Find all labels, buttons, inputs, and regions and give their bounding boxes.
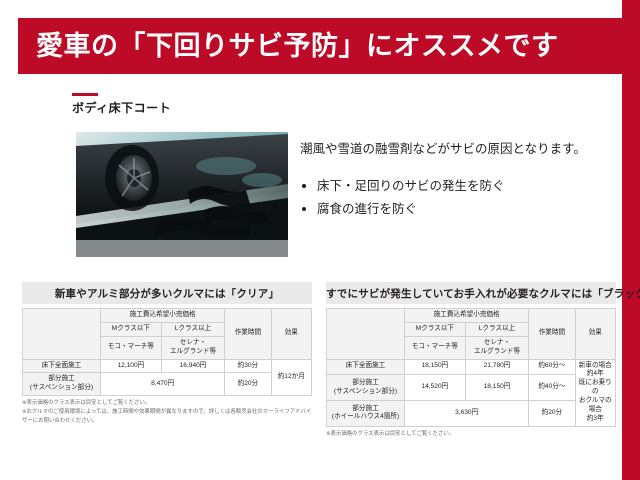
cell-work-time: 約40分〜 bbox=[529, 375, 575, 401]
table-row: 部分施工 (サスペンション部分) 8,470円 約20分 bbox=[23, 373, 312, 396]
cell-work-time: 約30分 bbox=[225, 359, 271, 373]
row-label: 床下全面施工 bbox=[23, 359, 101, 373]
cell-effect: 約12か月 bbox=[271, 359, 311, 396]
car-undercarriage-photo bbox=[76, 132, 288, 257]
cell-price-merged: 3,630円 bbox=[405, 401, 529, 427]
list-item: 腐食の進行を防ぐ bbox=[300, 198, 600, 221]
table-row: 部分施工 (ホイールハウス4箇所) 3,630円 約20分 bbox=[327, 401, 616, 427]
cell-work-time: 約20分 bbox=[529, 401, 575, 427]
table-header-row: 施工費込希望小売価格 作業時間 効果 bbox=[327, 309, 616, 323]
cell-price-large: 21,780円 bbox=[465, 359, 529, 375]
header-work-time: 作業時間 bbox=[225, 309, 271, 360]
table-row: 床下全面施工 18,150円 21,780円 約60分〜 新車の場合 約4年 既… bbox=[327, 359, 616, 375]
cell-price-large: 16,940円 bbox=[161, 359, 225, 373]
table-notes: ※表示価格のクラス表示は目安としてご覧ください。 ※おクルマのご使用環境によって… bbox=[22, 399, 312, 425]
header-work-time: 作業時間 bbox=[529, 309, 575, 360]
cell-work-time: 約20分 bbox=[225, 373, 271, 396]
cell-price-small: 18,150円 bbox=[405, 359, 466, 375]
note-line: ※おクルマのご使用環境によっては、施工時間や効果期間が異なりますので、詳しくは各… bbox=[22, 408, 312, 425]
table-notes: ※表示価格のクラス表示は目安としてご覧ください。 bbox=[326, 430, 616, 439]
price-block-title: すでにサビが発生していてお手入れが必要なクルマには「ブラック」 bbox=[326, 282, 616, 304]
header-banner: 愛車の「下回りサビ予防」にオススメです bbox=[18, 18, 622, 74]
header-example-large: セレナ・ エルグランド等 bbox=[161, 336, 225, 359]
price-table-black: 施工費込希望小売価格 作業時間 効果 Mクラス以下 Lクラス以上 モコ・マーチ等… bbox=[326, 308, 616, 427]
cell-price-small: 14,520円 bbox=[405, 375, 466, 401]
section-label: ボディ床下コート bbox=[72, 99, 171, 116]
copy-block: 潮風や雪道の融雪剤などがサビの原因となります。 床下・足回りのサビの発生を防ぐ … bbox=[300, 140, 600, 221]
row-label: 床下全面施工 bbox=[327, 359, 405, 375]
row-label: 部分施工 (ホイールハウス4箇所) bbox=[327, 401, 405, 427]
header-example-large: セレナ・ エルグランド等 bbox=[465, 336, 529, 359]
section-rule bbox=[72, 93, 98, 96]
benefit-list: 床下・足回りのサビの発生を防ぐ 腐食の進行を防ぐ bbox=[300, 175, 600, 221]
header-class-small: Mクラス以下 bbox=[405, 322, 466, 336]
copy-lead: 潮風や雪道の融雪剤などがサビの原因となります。 bbox=[300, 140, 600, 159]
right-edge-accent-bar bbox=[622, 0, 640, 480]
header-class-large: Lクラス以上 bbox=[161, 322, 225, 336]
header-spacer bbox=[23, 309, 101, 360]
header-price-group: 施工費込希望小売価格 bbox=[101, 309, 225, 323]
price-table-clear: 施工費込希望小売価格 作業時間 効果 Mクラス以下 Lクラス以上 モコ・マーチ等… bbox=[22, 308, 312, 396]
header-spacer bbox=[327, 309, 405, 360]
note-line: ※表示価格のクラス表示は目安としてご覧ください。 bbox=[326, 430, 616, 439]
header-price-group: 施工費込希望小売価格 bbox=[405, 309, 529, 323]
cell-price-merged: 8,470円 bbox=[101, 373, 225, 396]
price-block-black: すでにサビが発生していてお手入れが必要なクルマには「ブラック」 施工費込希望小売… bbox=[326, 282, 616, 438]
table-row: 部分施工 (サスペンション部分) 14,520円 18,150円 約40分〜 bbox=[327, 375, 616, 401]
header-class-large: Lクラス以上 bbox=[465, 322, 529, 336]
cell-work-time: 約60分〜 bbox=[529, 359, 575, 375]
header-effect: 効果 bbox=[575, 309, 615, 360]
table-row: 床下全面施工 12,100円 16,940円 約30分 約12か月 bbox=[23, 359, 312, 373]
header-effect: 効果 bbox=[271, 309, 311, 360]
header-example-small: モコ・マーチ等 bbox=[101, 336, 162, 359]
cell-price-large: 18,150円 bbox=[465, 375, 529, 401]
banner-title: 愛車の「下回りサビ予防」にオススメです bbox=[36, 33, 559, 60]
note-line: ※表示価格のクラス表示は目安としてご覧ください。 bbox=[22, 399, 312, 408]
row-label: 部分施工 (サスペンション部分) bbox=[327, 375, 405, 401]
cell-effect-merged: 新車の場合 約4年 既にお乗りの おクルマの場合 約3年 bbox=[575, 359, 615, 426]
price-block-title: 新車やアルミ部分が多いクルマには「クリア」 bbox=[22, 282, 312, 304]
list-item: 床下・足回りのサビの発生を防ぐ bbox=[300, 175, 600, 198]
header-example-small: モコ・マーチ等 bbox=[405, 336, 466, 359]
advertisement-page: 愛車の「下回りサビ予防」にオススメです ボディ床下コート bbox=[0, 0, 640, 480]
row-label: 部分施工 (サスペンション部分) bbox=[23, 373, 101, 396]
header-class-small: Mクラス以下 bbox=[101, 322, 162, 336]
table-header-row: 施工費込希望小売価格 作業時間 効果 bbox=[23, 309, 312, 323]
cell-price-small: 12,100円 bbox=[101, 359, 162, 373]
price-block-clear: 新車やアルミ部分が多いクルマには「クリア」 施工費込希望小売価格 作業時間 効果… bbox=[22, 282, 312, 425]
undercarriage-illustration bbox=[76, 132, 288, 257]
